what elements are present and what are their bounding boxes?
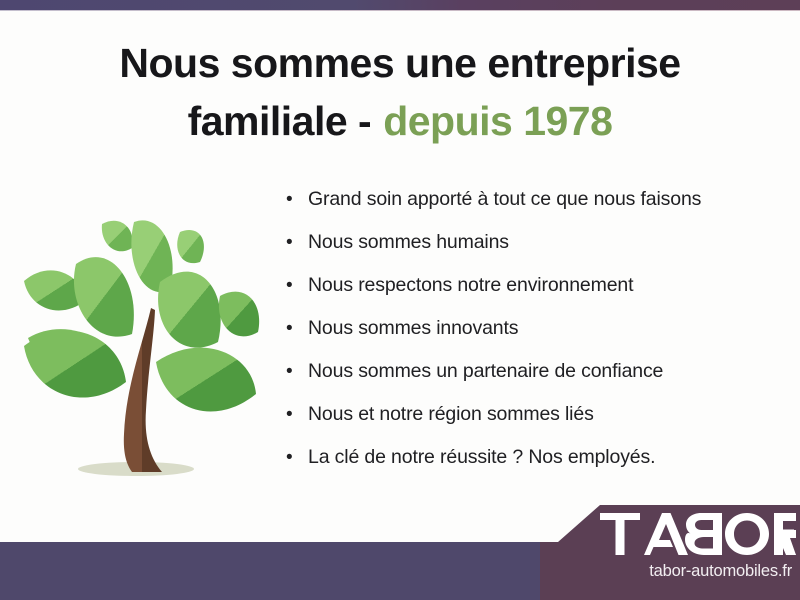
- list-item: • Grand soin apporté à tout ce que nous …: [286, 190, 776, 233]
- bullet-marker-icon: •: [286, 276, 308, 295]
- list-item-label: Grand soin apporté à tout ce que nous fa…: [308, 190, 701, 210]
- list-item-label: La clé de notre réussite ? Nos employés.: [308, 448, 655, 468]
- top-accent-hairline: [0, 10, 800, 11]
- list-item: • Nous sommes un partenaire de confiance: [286, 362, 776, 405]
- tree-illustration: [14, 186, 264, 486]
- slide-canvas: Nous sommes une entreprise familiale -de…: [0, 0, 800, 600]
- page-title-line-1: Nous sommes une entreprise: [0, 34, 800, 92]
- list-item-label: Nous et notre région sommes liés: [308, 405, 594, 425]
- tree-icon: [14, 186, 264, 486]
- page-title-accent: depuis 1978: [383, 98, 612, 144]
- value-list: • Grand soin apporté à tout ce que nous …: [286, 190, 776, 491]
- list-item-label: Nous sommes innovants: [308, 319, 518, 339]
- bullet-marker-icon: •: [286, 362, 308, 381]
- list-item: • La clé de notre réussite ? Nos employé…: [286, 448, 776, 491]
- list-item: • Nous respectons notre environnement: [286, 276, 776, 319]
- list-item: • Nous sommes humains: [286, 233, 776, 276]
- list-item: • Nous et notre région sommes liés: [286, 405, 776, 448]
- page-title-line-2-plain: familiale -: [188, 98, 372, 144]
- brand-logo[interactable]: tabor-automobiles.fr: [600, 505, 800, 600]
- list-item-label: Nous sommes humains: [308, 233, 509, 253]
- bullet-marker-icon: •: [286, 405, 308, 424]
- list-item-label: Nous sommes un partenaire de confiance: [308, 362, 663, 382]
- bullet-marker-icon: •: [286, 319, 308, 338]
- brand-url[interactable]: tabor-automobiles.fr: [600, 562, 792, 581]
- top-accent-bar: [0, 0, 800, 10]
- bullet-marker-icon: •: [286, 233, 308, 252]
- page-title: Nous sommes une entreprise familiale -de…: [0, 34, 800, 150]
- bullet-marker-icon: •: [286, 448, 308, 467]
- bullet-marker-icon: •: [286, 190, 308, 209]
- list-item: • Nous sommes innovants: [286, 319, 776, 362]
- tabor-wordmark-icon: [600, 513, 796, 555]
- page-title-line-2: familiale -depuis 1978: [0, 92, 800, 150]
- list-item-label: Nous respectons notre environnement: [308, 276, 633, 296]
